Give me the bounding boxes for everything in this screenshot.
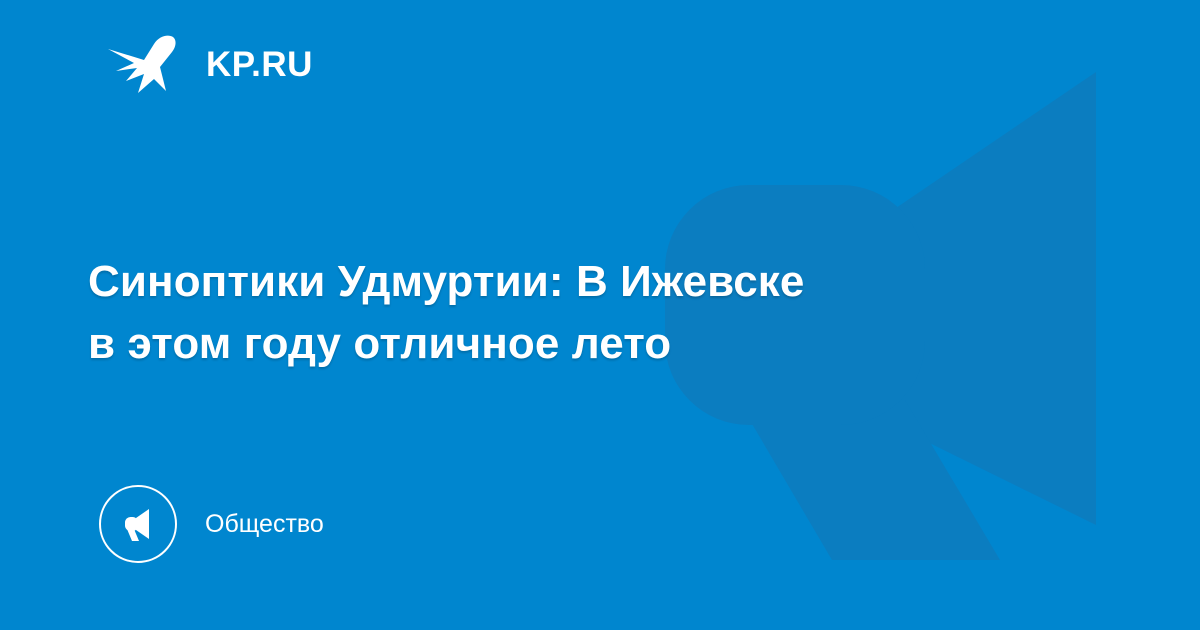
site-logo[interactable]: KP.RU <box>104 33 313 95</box>
page-title: Синоптики Удмуртии: В Ижевске в этом год… <box>88 251 1088 375</box>
logo-wordmark: KP.RU <box>206 47 313 82</box>
category-icon-circle <box>99 485 177 563</box>
megaphone-icon <box>118 504 158 544</box>
article-share-card: KP.RU Синоптики Удмуртии: В Ижевске в эт… <box>0 0 1200 630</box>
swallow-bird-icon <box>104 33 180 95</box>
category-label: Общество <box>205 512 324 537</box>
category-badge[interactable]: Общество <box>99 484 324 564</box>
